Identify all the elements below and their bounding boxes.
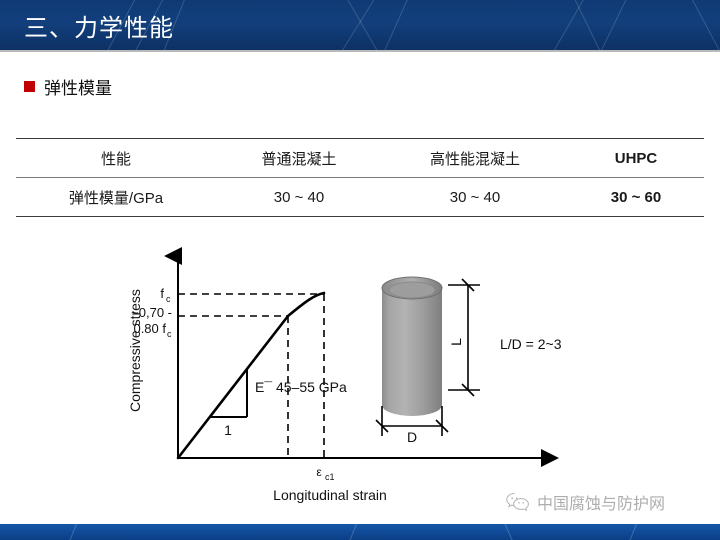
cylinder-body: [382, 288, 442, 416]
modulus-annotation: E¯ 45–55 GPa: [255, 379, 347, 395]
x-tick-epsilon-subscript: c1: [325, 472, 335, 482]
table-header-row: 性能 普通混凝土 高性能混凝土 UHPC: [16, 139, 704, 178]
table-cell-hpc: 30 ~ 40: [382, 178, 568, 217]
table-header-property: 性能: [16, 139, 216, 178]
square-bullet-icon: [24, 81, 35, 92]
cylinder-specimen: [382, 277, 442, 416]
ld-ratio-label: L/D = 2~3: [500, 336, 562, 352]
section-heading-label: 弹性模量: [44, 74, 112, 99]
watermark-text: 中国腐蚀与防护网: [537, 490, 665, 514]
slope-hypotenuse: [210, 369, 247, 417]
stress-strain-curve: [178, 293, 324, 458]
table-header-uhpc: UHPC: [568, 139, 704, 178]
x-axis-label: Longitudinal strain: [273, 487, 387, 503]
y-tick-partial-subscript: c: [167, 329, 172, 339]
wechat-icon: [505, 491, 531, 513]
x-tick-epsilon: ε: [316, 465, 322, 479]
y-tick-partial-line1: ~0,70 -: [131, 305, 172, 320]
table-cell-uhpc: 30 ~ 60: [568, 178, 704, 217]
slide-header: 三、力学性能: [0, 0, 720, 50]
table-row: 弹性模量/GPa 30 ~ 40 30 ~ 40 30 ~ 60: [16, 178, 704, 217]
y-tick-fc-subscript: c: [166, 294, 171, 304]
section-heading: 弹性模量: [24, 74, 112, 99]
slope-label: 1: [224, 422, 232, 438]
table-header-hpc: 高性能混凝土: [382, 139, 568, 178]
slide-footer: [0, 524, 720, 540]
cylinder-inner-rim: [389, 282, 435, 298]
table-header-normal-concrete: 普通混凝土: [216, 139, 382, 178]
y-tick-partial-line2: 0.80 f: [133, 321, 166, 336]
y-tick-fc: f: [160, 286, 164, 301]
stress-strain-svg: Compressive stress f c ~0,70 - 0.80 f c …: [100, 240, 620, 510]
slide: 三、力学性能 弹性模量 性能 普通混凝土 高性能混凝土 UHPC 弹性模量/GP…: [0, 0, 720, 540]
watermark: 中国腐蚀与防护网: [505, 490, 665, 514]
properties-table: 性能 普通混凝土 高性能混凝土 UHPC 弹性模量/GPa 30 ~ 40 30…: [16, 138, 704, 217]
length-label: L: [448, 338, 464, 346]
table-cell-normal-concrete: 30 ~ 40: [216, 178, 382, 217]
diameter-label: D: [407, 429, 417, 445]
header-divider: [0, 50, 720, 52]
stress-strain-figure: Compressive stress f c ~0,70 - 0.80 f c …: [100, 240, 620, 510]
properties-table-wrapper: 性能 普通混凝土 高性能混凝土 UHPC 弹性模量/GPa 30 ~ 40 30…: [16, 138, 704, 217]
length-dimension: L: [448, 279, 480, 396]
page-title: 三、力学性能: [24, 8, 174, 43]
table-cell-property: 弹性模量/GPa: [16, 178, 216, 217]
